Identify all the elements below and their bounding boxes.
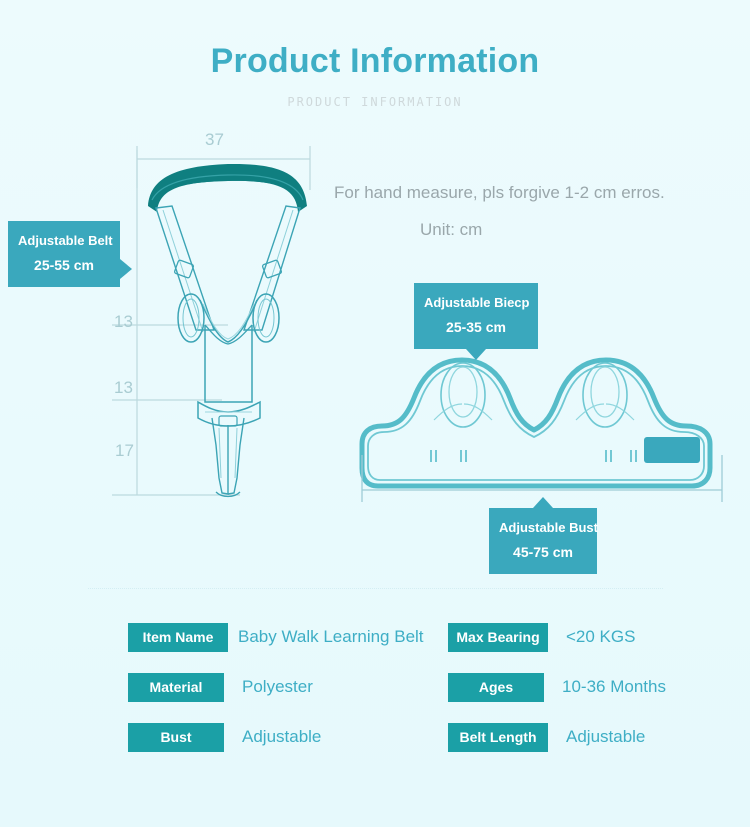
callout-adjustable-belt: Adjustable Belt 25-55 cm [8, 221, 120, 287]
spec-label-item-name: Item Name [128, 623, 228, 652]
table-row: Item Name Baby Walk Learning Belt Max Be… [0, 612, 750, 662]
spec-label-material: Material [128, 673, 224, 702]
spec-cell-ages: Ages 10-36 Months [448, 673, 738, 702]
unit-note: Unit: cm [420, 220, 482, 240]
table-row: Bust Adjustable Belt Length Adjustable [0, 712, 750, 762]
spec-cell-max-bearing: Max Bearing <20 KGS [448, 623, 738, 652]
callout-adjustable-biecp: Adjustable Biecp 25-35 cm [414, 283, 538, 349]
spec-label-ages: Ages [448, 673, 544, 702]
height-dimension-label-3: 17 [115, 441, 134, 461]
callout-bust-value: 45-75 cm [499, 540, 587, 565]
spec-value-material: Polyester [242, 677, 313, 697]
spec-label-belt-length: Belt Length [448, 723, 548, 752]
harness-flat-illustration [362, 360, 710, 486]
table-row: Material Polyester Ages 10-36 Months [0, 662, 750, 712]
callout-adjustable-bust: Adjustable Bust 45-75 cm [489, 508, 597, 574]
callout-biecp-title: Adjustable Biecp [424, 292, 528, 315]
callout-bust-title: Adjustable Bust [499, 517, 587, 540]
height-dimension-label-2: 13 [114, 378, 133, 398]
callout-biecp-value: 25-35 cm [424, 315, 528, 340]
specifications-table: Item Name Baby Walk Learning Belt Max Be… [0, 612, 750, 762]
spec-cell-bust: Bust Adjustable [128, 723, 448, 752]
spec-value-ages: 10-36 Months [562, 677, 666, 697]
product-information-page: Product Information PRODUCT INFORMATION [0, 0, 750, 827]
harness-front-illustration [148, 164, 307, 497]
callout-belt-title: Adjustable Belt [18, 230, 110, 253]
spec-value-bust: Adjustable [242, 727, 321, 747]
width-dimension-label: 37 [205, 130, 224, 150]
measurement-note: For hand measure, pls forgive 1-2 cm err… [334, 183, 665, 203]
spec-label-bust: Bust [128, 723, 224, 752]
spec-cell-belt-length: Belt Length Adjustable [448, 723, 738, 752]
spec-value-item-name: Baby Walk Learning Belt [238, 627, 424, 647]
callout-belt-value: 25-55 cm [18, 253, 110, 278]
section-divider [88, 588, 663, 590]
spec-value-belt-length: Adjustable [566, 727, 645, 747]
spec-value-max-bearing: <20 KGS [566, 627, 635, 647]
spec-label-max-bearing: Max Bearing [448, 623, 548, 652]
height-dimension-label-1: 13 [114, 312, 133, 332]
spec-cell-material: Material Polyester [128, 673, 448, 702]
spec-cell-item-name: Item Name Baby Walk Learning Belt [128, 623, 448, 652]
